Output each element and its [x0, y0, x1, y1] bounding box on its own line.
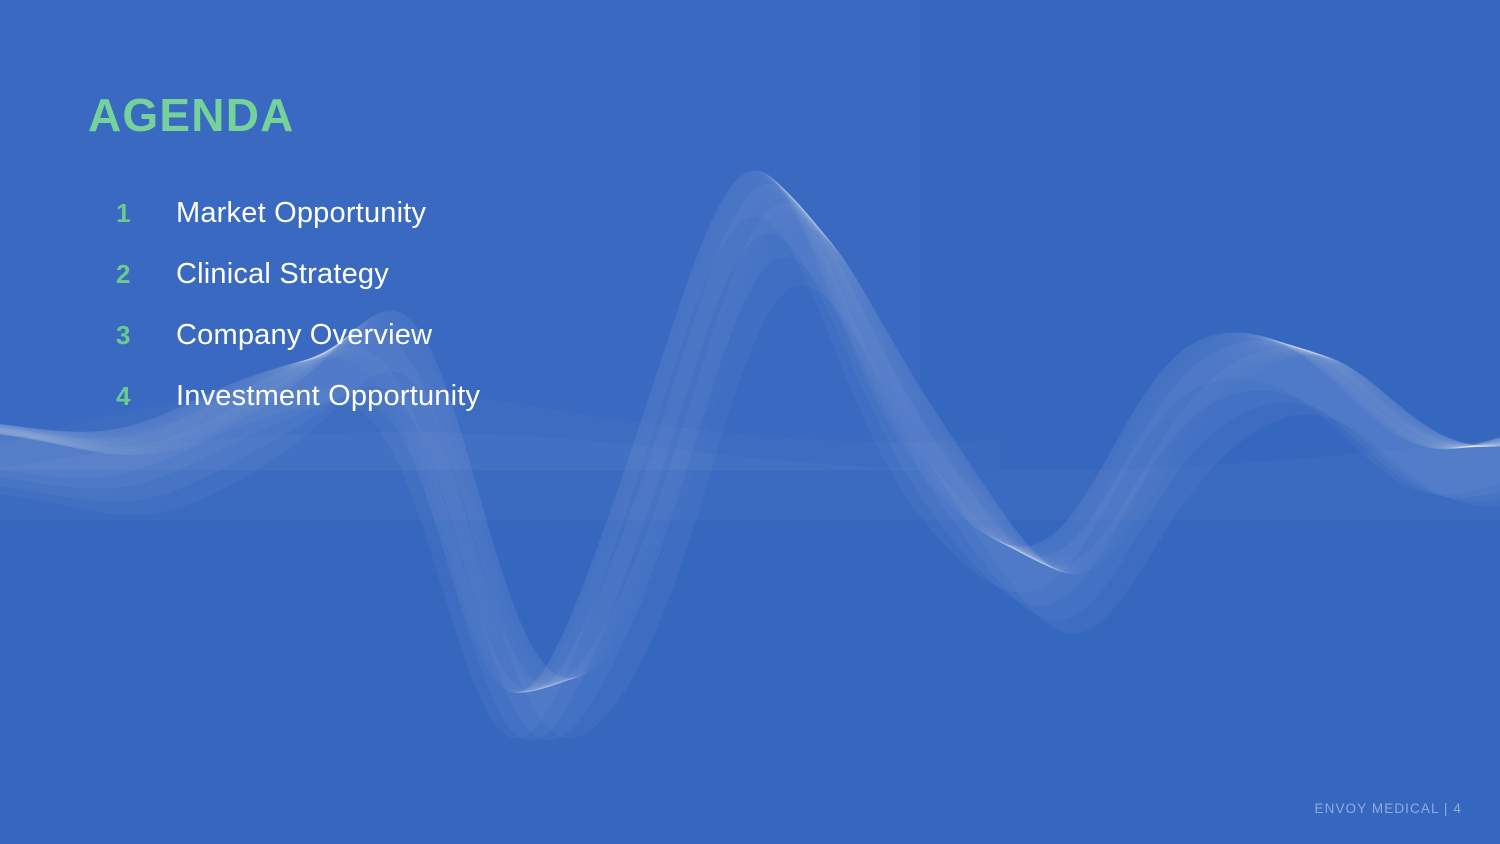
agenda-item-number: 4	[116, 383, 176, 409]
agenda-item-4[interactable]: 4 Investment Opportunity	[116, 382, 876, 443]
agenda-item-number: 2	[116, 261, 176, 287]
agenda-item-label: Clinical Strategy	[176, 260, 389, 289]
agenda-item-label: Company Overview	[176, 321, 432, 350]
agenda-slide: AGENDA 1 Market Opportunity 2 Clinical S…	[0, 0, 1500, 844]
agenda-item-number: 3	[116, 322, 176, 348]
agenda-list: 1 Market Opportunity 2 Clinical Strategy…	[116, 199, 876, 443]
agenda-item-number: 1	[116, 200, 176, 226]
agenda-item-3[interactable]: 3 Company Overview	[116, 321, 876, 382]
agenda-item-1[interactable]: 1 Market Opportunity	[116, 199, 876, 260]
page-title: AGENDA	[88, 92, 295, 138]
slide-footer: ENVOY MEDICAL | 4	[1315, 801, 1463, 816]
agenda-item-2[interactable]: 2 Clinical Strategy	[116, 260, 876, 321]
agenda-item-label: Market Opportunity	[176, 199, 426, 228]
agenda-item-label: Investment Opportunity	[176, 382, 480, 411]
